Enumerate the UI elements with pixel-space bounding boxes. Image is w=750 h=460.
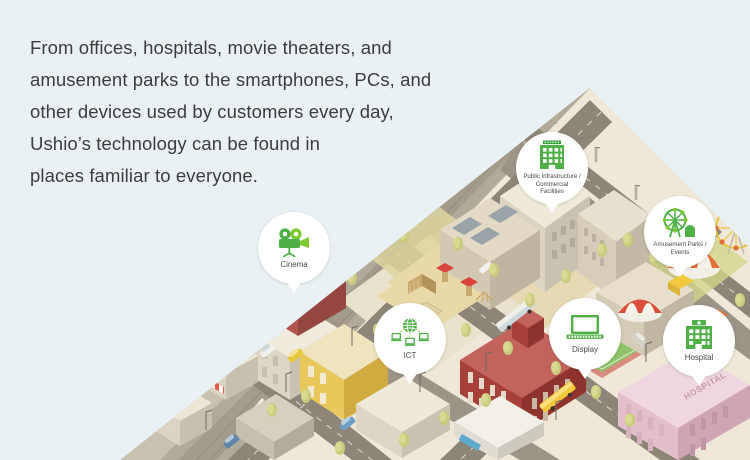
badge-label: ICT bbox=[404, 351, 417, 360]
laptop-icon bbox=[566, 314, 604, 342]
badge-label: Display bbox=[572, 345, 598, 354]
badge-label: Amusement Parks / Events bbox=[653, 241, 706, 256]
isometric-city-map: HOSPITAL bbox=[0, 0, 750, 460]
network-globe-icon bbox=[391, 318, 429, 348]
badge-label: Public Infrastructure / Commercial Facil… bbox=[523, 173, 580, 195]
badge-pointer bbox=[577, 367, 593, 379]
hospital-building-icon bbox=[683, 320, 715, 350]
badge-amusement-parks[interactable]: Amusement Parks / Events bbox=[644, 196, 716, 268]
badge-ict[interactable]: ICT bbox=[374, 303, 446, 375]
badge-pointer bbox=[544, 201, 560, 213]
page-root: HOSPITAL bbox=[0, 0, 750, 460]
badge-pointer bbox=[402, 372, 418, 384]
office-building-icon bbox=[536, 140, 568, 170]
badge-display[interactable]: Display bbox=[549, 298, 621, 370]
badge-label: Hospital bbox=[685, 353, 714, 362]
badge-cinema[interactable]: Cinema bbox=[258, 212, 330, 284]
badge-pointer bbox=[672, 265, 688, 277]
badge-pointer bbox=[691, 374, 707, 386]
badge-public-infrastructure[interactable]: Public Infrastructure / Commercial Facil… bbox=[516, 132, 588, 204]
movie-camera-icon bbox=[276, 227, 312, 257]
badge-hospital[interactable]: Hospital bbox=[663, 305, 735, 377]
badge-label: Cinema bbox=[280, 260, 307, 269]
badge-pointer bbox=[286, 281, 302, 293]
ferris-wheel-icon bbox=[663, 208, 697, 238]
